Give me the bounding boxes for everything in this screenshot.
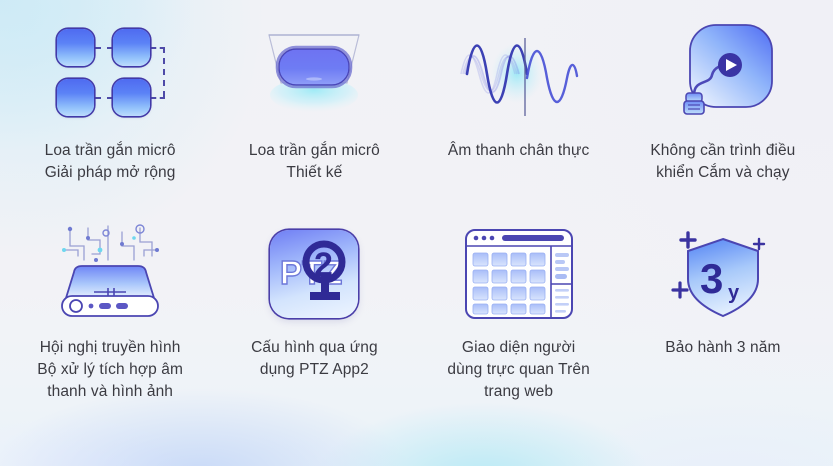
audio-waveform-svg xyxy=(449,18,589,128)
sparkle-plus-bottom xyxy=(673,283,687,297)
feature-caption: Bảo hành 3 năm xyxy=(665,337,780,359)
dash-connector-bottom xyxy=(95,97,113,99)
plug-and-play-icon xyxy=(664,14,782,132)
warranty-years-number: 3 xyxy=(700,255,723,302)
node-square-1 xyxy=(57,29,94,66)
feature-item-ptz-app: PTZ 2 Cấu hình qua ứng dụng PTZ App2 xyxy=(212,219,416,434)
linked-squares-icon xyxy=(51,14,169,132)
feature-caption: Giao diện người dùng trực quan Trên tran… xyxy=(447,337,589,403)
node-square-3 xyxy=(57,79,94,116)
ptz-badge-number: 2 xyxy=(314,246,333,284)
plug-and-play-svg xyxy=(664,17,782,129)
conference-processor-icon xyxy=(44,219,176,329)
node-square-2 xyxy=(113,29,150,66)
dash-connector-top xyxy=(95,47,113,49)
ptz-app-tile: PTZ 2 xyxy=(270,230,358,318)
ptz-app-icon: PTZ 2 xyxy=(270,219,358,329)
feature-item-expandable-mic-speaker: Loa trần gắn micrô Giải pháp mở rộng xyxy=(8,14,212,219)
feature-caption: Âm thanh chân thực xyxy=(448,140,589,162)
node-square-4 xyxy=(113,79,150,116)
usb-plug xyxy=(684,93,704,114)
warranty-shield-svg: 3 y xyxy=(660,221,786,327)
web-interface-svg xyxy=(458,222,580,326)
ceiling-speaker-icon xyxy=(251,14,377,132)
feature-item-conference-processor: Hội nghị truyền hình Bộ xử lý tích hợp â… xyxy=(8,219,212,434)
feature-caption: Loa trần gắn micrô Thiết kế xyxy=(249,140,380,184)
conference-processor-svg xyxy=(44,220,176,328)
feature-caption: Hội nghị truyền hình Bộ xử lý tích hợp â… xyxy=(37,337,183,403)
sparkle-plus-small xyxy=(754,239,764,249)
circuit-rings xyxy=(103,225,144,236)
dash-connector-bottom-right xyxy=(151,97,165,99)
feature-item-ceiling-speaker-design: Loa trần gắn micrô Thiết kế xyxy=(212,14,416,219)
feature-grid: Loa trần gắn micrô Giải pháp mở rộng xyxy=(0,0,833,466)
feature-caption: Loa trần gắn micrô Giải pháp mở rộng xyxy=(45,140,176,184)
feature-caption: Cấu hình qua ứng dụng PTZ App2 xyxy=(251,337,378,381)
feature-item-true-audio: Âm thanh chân thực xyxy=(417,14,621,219)
feature-highlights-panel: Loa trần gắn micrô Giải pháp mở rộng xyxy=(0,0,833,466)
dash-connector-vertical xyxy=(163,47,165,97)
web-interface-icon xyxy=(458,219,580,329)
feature-item-plug-and-play: Không cần trình điều khiển Cắm và chạy xyxy=(621,14,825,219)
audio-waveform-icon xyxy=(449,14,589,132)
warranty-years-unit: y xyxy=(728,282,740,304)
warranty-shield-icon: 3 y xyxy=(660,219,786,329)
feature-item-web-interface: Giao diện người dùng trực quan Trên tran… xyxy=(417,219,621,434)
circuit-nodes xyxy=(68,227,159,262)
feature-item-warranty: 3 y Bảo hành 3 năm xyxy=(621,219,825,434)
sparkle-plus-large xyxy=(681,233,695,247)
ptz-app-glyph: PTZ 2 xyxy=(270,230,358,318)
ceiling-speaker-svg xyxy=(251,21,377,125)
feature-caption: Không cần trình điều khiển Cắm và chạy xyxy=(650,140,795,184)
